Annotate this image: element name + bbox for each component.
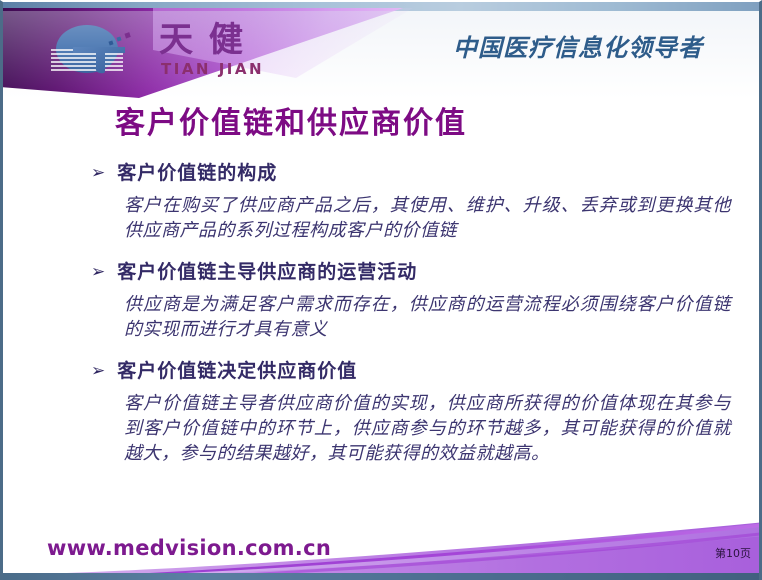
page-number: 第10页 (715, 545, 751, 561)
section-heading-label: 客户价值链主导供应商的运营活动 (117, 259, 417, 285)
section-heading: ➢ 客户价值链决定供应商价值 (91, 358, 731, 384)
arrow-bullet-icon: ➢ (91, 259, 106, 285)
content-section: ➢ 客户价值链决定供应商价值 客户价值链主导者供应商价值的实现，供应商所获得的价… (91, 358, 731, 466)
section-body: 客户在购买了供应商产品之后，其使用、维护、升级、丢弃或到更换其他供应商产品的系列… (124, 193, 731, 243)
arrow-bullet-icon: ➢ (91, 358, 106, 384)
slide-footer: www.medvision.com.cn 第10页 (3, 520, 762, 580)
section-body: 供应商是为满足客户需求而存在，供应商的运营流程必须围绕客户价值链的实现而进行才具… (124, 292, 731, 342)
header-slogan: 中国医疗信息化领导者 (453, 28, 703, 63)
section-heading: ➢ 客户价值链的构成 (91, 160, 731, 186)
logo-text-chinese: 天 健 (159, 22, 245, 58)
content-section: ➢ 客户价值链的构成 客户在购买了供应商产品之后，其使用、维护、升级、丢弃或到更… (91, 160, 731, 243)
content-section: ➢ 客户价值链主导供应商的运营活动 供应商是为满足客户需求而存在，供应商的运营流… (91, 259, 731, 342)
section-heading-label: 客户价值链决定供应商价值 (117, 358, 357, 384)
page-title: 客户价值链和供应商价值 (115, 98, 467, 142)
slide-content: ➢ 客户价值链的构成 客户在购买了供应商产品之后，其使用、维护、升级、丢弃或到更… (91, 160, 731, 482)
footer-website-url[interactable]: www.medvision.com.cn (47, 536, 331, 560)
section-body: 客户价值链主导者供应商价值的实现，供应商所获得的价值体现在其参与到客户价值链中的… (124, 391, 731, 466)
section-heading-label: 客户价值链的构成 (117, 160, 277, 186)
presentation-slide: 天 健 TIAN JIAN 中国医疗信息化领导者 客户价值链和供应商价值 ➢ 客… (0, 0, 762, 580)
logo-text-pinyin: TIAN JIAN (161, 60, 264, 78)
brand-logo: 天 健 TIAN JIAN (47, 24, 347, 84)
arrow-bullet-icon: ➢ (91, 160, 106, 186)
section-heading: ➢ 客户价值链主导供应商的运营活动 (91, 259, 731, 285)
tianjian-oval-logo-icon (47, 24, 157, 76)
bottom-gradient-strip (3, 573, 762, 580)
